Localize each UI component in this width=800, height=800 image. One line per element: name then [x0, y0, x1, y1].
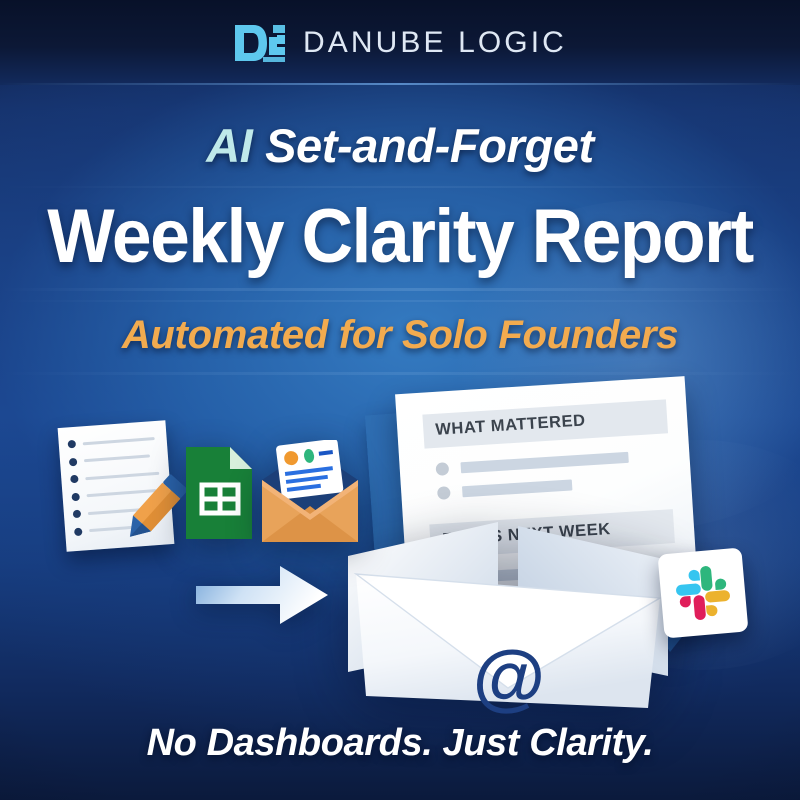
notepad-dot-icon — [74, 527, 83, 536]
arrow-right-icon — [196, 558, 328, 632]
hero-headline: Weekly Clarity Report — [24, 193, 776, 280]
hero-tagline: No Dashboards. Just Clarity. — [0, 722, 800, 765]
notepad-dot-icon — [73, 510, 82, 519]
report-bullet — [437, 472, 671, 500]
notepad-line — [68, 434, 157, 448]
notepad-dot-icon — [70, 475, 79, 484]
notepad-rule — [84, 454, 150, 462]
at-symbol-glyph: @ — [472, 633, 546, 719]
notepad-line — [69, 451, 158, 465]
bullet-bar — [460, 452, 628, 474]
brand-header: DANUBE LOGIC — [0, 0, 800, 85]
brand-name: DANUBE LOGIC — [303, 26, 567, 60]
report-bullet — [435, 448, 669, 476]
hero-subhead: Automated for Solo Founders — [0, 313, 800, 358]
notepad-dot-icon — [69, 457, 78, 466]
google-sheets-icon — [186, 447, 252, 539]
notepad-dot-icon — [71, 492, 80, 501]
notepad-dot-icon — [68, 440, 77, 449]
slack-icon — [657, 547, 748, 638]
hero-eyebrow: AI Set-and-Forget — [0, 118, 800, 173]
bullet-bar — [462, 479, 572, 497]
bullet-dot-icon — [437, 486, 451, 500]
at-symbol: @ — [465, 632, 552, 719]
hero-eyebrow-accent: AI — [206, 119, 252, 172]
contact-card-envelope-icon — [258, 440, 362, 546]
dl-monogram-icon — [233, 21, 287, 65]
pencil-icon — [112, 468, 196, 552]
poster-canvas: DANUBE LOGIC AI Set-and-Forget Weekly Cl… — [0, 0, 800, 800]
bullet-dot-icon — [435, 462, 449, 476]
report-section-title: WHAT MATTERED — [435, 407, 656, 440]
hero-eyebrow-rest: Set-and-Forget — [252, 119, 593, 172]
notepad-rule — [83, 437, 155, 445]
report-section-band: WHAT MATTERED — [422, 399, 668, 448]
